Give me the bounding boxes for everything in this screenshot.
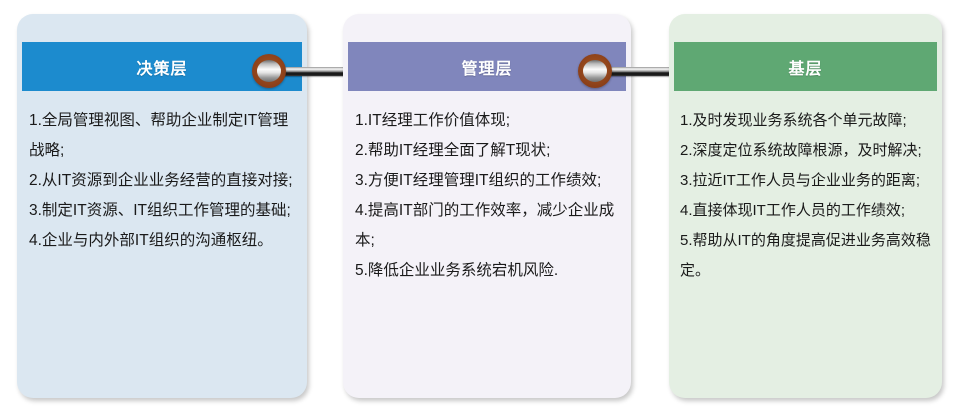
list-item: 1.全局管理视图、帮助企业制定IT管理战略; [29, 106, 295, 166]
card-header-base-layer: 基层 [674, 42, 937, 91]
card-header-management-layer: 管理层 [348, 42, 626, 91]
list-item: 3.方便IT经理管理IT组织的工作绩效; [355, 166, 619, 196]
card-body-base-layer: 1.及时发现业务系统各个单元故障; 2.深度定位系统故障根源，及时解决; 3.拉… [669, 96, 942, 392]
card-title-base-layer: 基层 [788, 55, 822, 79]
card-management-layer[interactable]: 管理层 1.IT经理工作价值体现; 2.帮助IT经理全面了解T现状; 3.方便I… [343, 14, 631, 398]
list-item: 4.企业与内外部IT组织的沟通枢纽。 [29, 226, 295, 256]
list-item: 4.直接体现IT工作人员的工作绩效; [680, 196, 936, 226]
card-title-management-layer: 管理层 [461, 55, 512, 79]
list-item: 3.拉近IT工作人员与企业业务的距离; [680, 166, 936, 196]
list-item: 5.帮助从IT的角度提高促进业务高效稳定。 [680, 226, 936, 286]
list-item: 1.及时发现业务系统各个单元故障; [680, 106, 936, 136]
list-item: 1.IT经理工作价值体现; [355, 106, 619, 136]
card-decision-layer[interactable]: 决策层 1.全局管理视图、帮助企业制定IT管理战略; 2.从IT资源到企业业务经… [17, 14, 307, 398]
list-item: 3.制定IT资源、IT组织工作管理的基础; [29, 196, 295, 226]
card-body-management-layer: 1.IT经理工作价值体现; 2.帮助IT经理全面了解T现状; 3.方便IT经理管… [343, 96, 631, 392]
card-header-decision-layer: 决策层 [22, 42, 302, 91]
list-item: 2.从IT资源到企业业务经营的直接对接; [29, 166, 295, 196]
list-item: 5.降低企业业务系统宕机风险. [355, 256, 619, 286]
list-item: 2.深度定位系统故障根源，及时解决; [680, 136, 936, 166]
card-base-layer[interactable]: 基层 1.及时发现业务系统各个单元故障; 2.深度定位系统故障根源，及时解决; … [669, 14, 942, 398]
card-body-decision-layer: 1.全局管理视图、帮助企业制定IT管理战略; 2.从IT资源到企业业务经营的直接… [17, 96, 307, 392]
list-item: 4.提高IT部门的工作效率，减少企业成本; [355, 196, 619, 256]
card-title-decision-layer: 决策层 [136, 55, 187, 79]
three-tier-diagram: 决策层 1.全局管理视图、帮助企业制定IT管理战略; 2.从IT资源到企业业务经… [0, 0, 960, 416]
list-item: 2.帮助IT经理全面了解T现状; [355, 136, 619, 166]
